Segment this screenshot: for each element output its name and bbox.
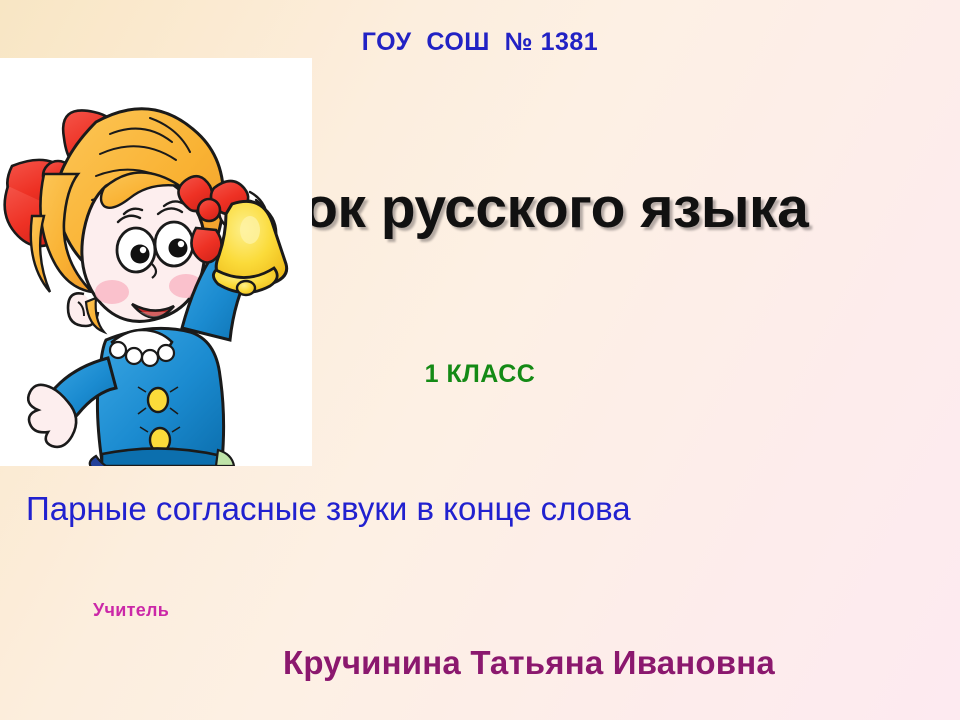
- illustration-card: [0, 58, 312, 466]
- presentation-slide: ГОУ СОШ № 1381 Урок русского языка: [0, 0, 960, 720]
- lesson-theme: Парные согласные звуки в конце слова: [26, 490, 631, 528]
- teacher-name: Кручинина Татьяна Ивановна: [283, 644, 775, 682]
- teacher-label: Учитель: [93, 600, 169, 621]
- page-title: Урок русского языка: [236, 175, 960, 241]
- class-line: 1 КЛАСС: [0, 360, 960, 389]
- schoolgirl-with-bell-icon: [0, 58, 312, 466]
- school-header: ГОУ СОШ № 1381: [0, 28, 960, 57]
